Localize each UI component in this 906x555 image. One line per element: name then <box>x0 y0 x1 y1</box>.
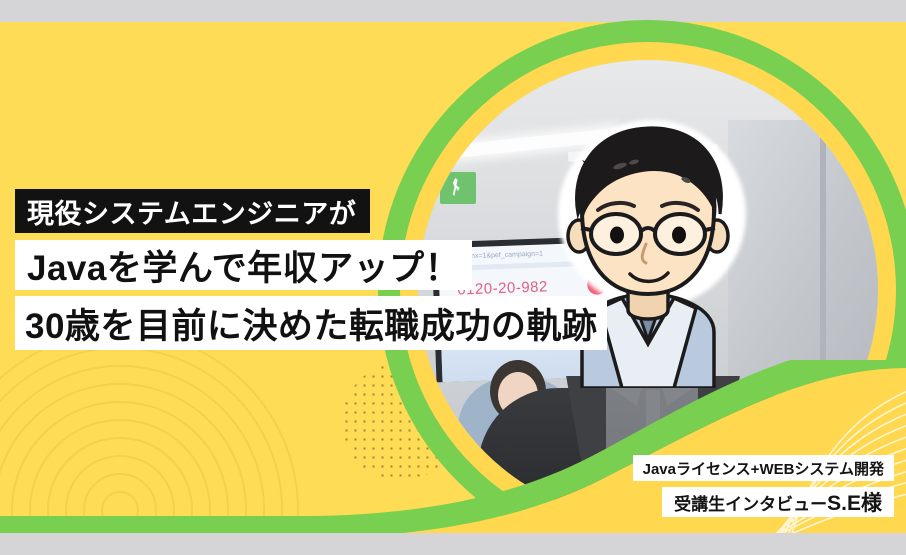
headline-eyebrow: 現役システムエンジニアが <box>15 189 370 233</box>
top-gray-band <box>0 0 906 22</box>
interview-caption-name: S.E様 <box>827 487 882 517</box>
interview-caption-prefix: 受講生インタビュー <box>674 490 827 515</box>
headline-line-2: 30歳を目前に決めた転職成功の軌跡 <box>15 296 607 350</box>
interview-banner: pef_sbanx=1&pef_campaign=1 0120-20-982 I… <box>0 0 906 555</box>
headline-line-1-text: Javaを学んで年収アップ！ <box>27 240 460 291</box>
interview-caption: 受講生インタビュー S.E様 <box>662 487 894 517</box>
course-caption: Javaライセンス+WEBシステム開発 <box>633 455 894 481</box>
headline-eyebrow-text: 現役システムエンジニアが <box>27 192 356 231</box>
course-caption-text: Javaライセンス+WEBシステム開発 <box>643 458 884 479</box>
headline-line-2-text: 30歳を目前に決めた転職成功の軌跡 <box>25 298 597 349</box>
bottom-gray-band <box>0 533 906 555</box>
headline-line-1: Javaを学んで年収アップ！ <box>15 240 472 290</box>
